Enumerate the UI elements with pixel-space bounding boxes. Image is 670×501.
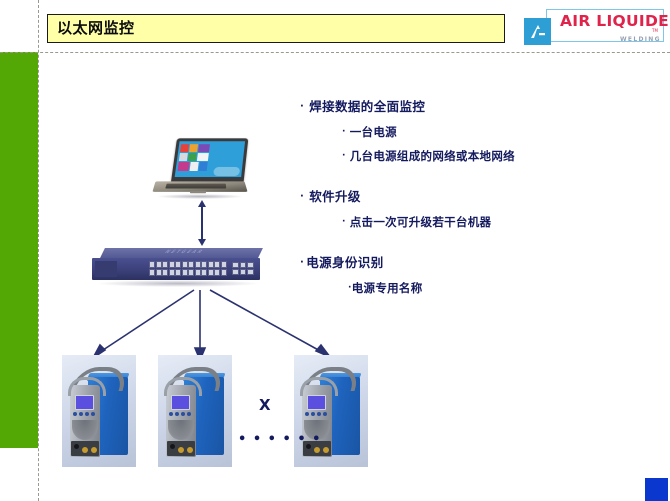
switch-left-panel	[95, 261, 117, 277]
welding-machine	[158, 355, 232, 467]
bullet-text: 点击一次可升级若干台机器	[350, 215, 492, 229]
switch-port-array	[149, 261, 227, 276]
slide-canvas: 以太网监控 AIR LIQUIDE TM WELDING ·焊接数据的全面监控 …	[0, 0, 670, 501]
slide-title-box: 以太网监控	[47, 14, 505, 43]
horizontal-dashed-guide	[0, 52, 670, 53]
bullet-text: 软件升级	[309, 189, 361, 204]
windows-tiles-icon	[177, 144, 211, 174]
desktop-wallpaper	[213, 167, 240, 176]
page-title: 以太网监控	[48, 21, 135, 36]
machine-control-knobs	[305, 411, 327, 417]
bullet-marker-icon: ·	[300, 257, 304, 268]
machine-display	[171, 395, 190, 410]
logo-sub-text: WELDING	[620, 36, 661, 43]
bullet-text: 几台电源组成的网络或本地网络	[350, 149, 515, 163]
bullet-text: 电源身份识别	[306, 255, 383, 270]
bullet-marker-icon: ·	[300, 101, 304, 112]
multiplier-label: X	[259, 396, 271, 414]
switch-uplink-ports	[232, 262, 254, 275]
ellipsis-label: • • • • • •	[238, 432, 321, 447]
laptop-lid	[171, 138, 248, 182]
machine-connector-panel	[167, 441, 195, 456]
vertical-dashed-guide	[38, 0, 39, 501]
machine-display	[75, 395, 94, 410]
machine-front-handle	[68, 377, 106, 396]
bullet-item: ·电源专用名称	[348, 280, 665, 296]
laptop-switch-link-arrow	[196, 200, 208, 246]
bullet-item: ·一台电源	[342, 124, 665, 140]
laptop-keyboard	[165, 184, 226, 189]
bullet-marker-icon: ·	[300, 191, 304, 202]
bullet-marker-icon: ·	[342, 217, 346, 227]
green-accent-bar	[0, 52, 38, 448]
bullet-item: ·焊接数据的全面监控	[300, 96, 665, 115]
machine-display	[307, 395, 326, 410]
air-liquide-logo: AIR LIQUIDE TM WELDING	[524, 7, 664, 49]
logo-tm-icon: TM	[652, 28, 658, 33]
bullet-item: ·几台电源组成的网络或本地网络	[342, 148, 665, 164]
machine-front-handle	[164, 377, 202, 396]
machine-front-handle	[300, 377, 338, 396]
machine-control-knobs	[73, 411, 95, 417]
welding-machine	[62, 355, 136, 467]
switch-brand-label: NETGEAR	[162, 250, 232, 256]
machine-control-knobs	[169, 411, 191, 417]
welding-machine	[294, 355, 368, 467]
bullet-spacer	[300, 238, 665, 252]
bullet-text: 电源专用名称	[352, 281, 423, 295]
laptop-trackpad	[190, 191, 206, 193]
bullet-spacer	[300, 172, 665, 186]
logo-mark-icon	[524, 18, 551, 45]
bullet-marker-icon: ·	[342, 151, 346, 161]
machine-connector-panel	[71, 441, 99, 456]
laptop-shadow	[156, 194, 244, 199]
bullet-list: ·焊接数据的全面监控 ·一台电源 ·几台电源组成的网络或本地网络 ·软件升级 ·…	[300, 96, 665, 304]
blue-corner-accent	[645, 478, 668, 501]
laptop-screen	[175, 141, 245, 177]
laptop-icon	[150, 138, 248, 200]
bullet-item: ·电源身份识别	[300, 252, 665, 271]
bullet-item: ·点击一次可升级若干台机器	[342, 214, 665, 230]
bullet-marker-icon: ·	[342, 127, 346, 137]
switch-shadow	[96, 280, 260, 287]
welding-machine-group	[60, 355, 380, 473]
bullet-text: 焊接数据的全面监控	[309, 99, 425, 114]
bullet-item: ·软件升级	[300, 186, 665, 205]
network-switch-icon: NETGEAR	[92, 248, 267, 293]
bullet-text: 一台电源	[350, 125, 397, 139]
